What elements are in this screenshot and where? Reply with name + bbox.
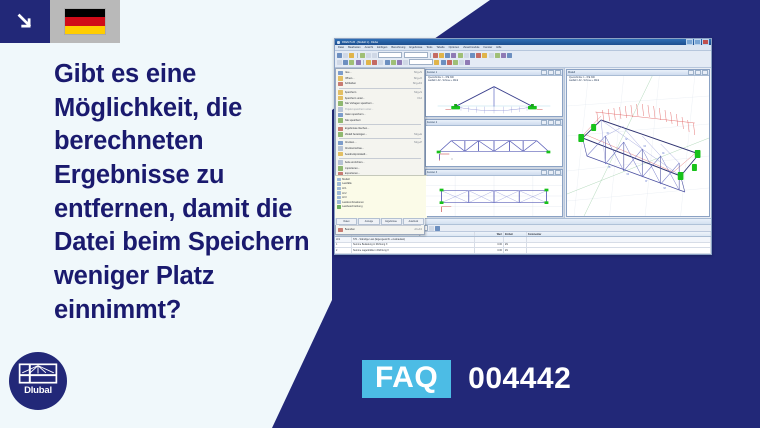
german-flag-icon	[65, 9, 105, 34]
file-menu-item-shortcut: Strg+F4	[413, 82, 422, 85]
snap-icon[interactable]	[464, 53, 469, 58]
addon-icon[interactable]	[501, 53, 506, 58]
menu-separator	[339, 158, 421, 159]
svg-text:N3: N3	[644, 146, 647, 148]
navigator-item-label: Lastkombinationen	[342, 201, 364, 204]
info-icon[interactable]	[465, 60, 470, 65]
file-menu-exit-label: Beenden	[345, 228, 413, 231]
table-cell: LF1	[335, 237, 352, 241]
import-icon	[338, 166, 343, 171]
app-body: Neu...Strg+NÖffnen...Strg+OSchließenStrg…	[335, 68, 711, 218]
calculate-icon[interactable]	[433, 53, 438, 58]
tree-node-icon	[337, 178, 341, 182]
menubar-item-5[interactable]: Ergebnisse	[409, 46, 422, 49]
menubar-item-4[interactable]: Berechnung	[391, 46, 405, 49]
new-icon[interactable]	[337, 53, 342, 58]
mirror-icon[interactable]	[391, 60, 396, 65]
toolbar-row-1[interactable]	[337, 52, 709, 58]
section-icon[interactable]	[489, 53, 494, 58]
new-file-icon	[338, 71, 343, 76]
file-menu-item-10[interactable]: Modell bereinigen...Strg+E	[336, 132, 424, 138]
menubar-item-10[interactable]: Fenster	[483, 46, 492, 49]
tree-node-green-icon	[337, 205, 341, 209]
filter-icon[interactable]	[447, 60, 452, 65]
tree-leaf-icon	[337, 191, 341, 195]
menubar-item-6[interactable]: Tools	[426, 46, 432, 49]
page-title: Gibt es eine Möglichkeit, die berechnete…	[54, 58, 329, 327]
table-cell	[504, 237, 527, 241]
support-icon[interactable]	[482, 53, 487, 58]
minimize-button[interactable]	[686, 39, 693, 45]
svg-text:N8: N8	[664, 188, 667, 190]
navigator-tabs[interactable]: DatenAnzeigeErgebnisseAusdruck	[335, 218, 425, 225]
file-menu-item-label: Ergebnisse löschen...	[345, 127, 420, 130]
file-menu-item-label: Neu...	[345, 71, 412, 74]
view-canvas-frame-elevation[interactable]: Querschnitte: 1 - IPE 300 Lastfall: LF2 …	[426, 76, 562, 116]
scale-field[interactable]	[409, 59, 433, 66]
member-icon[interactable]	[356, 60, 361, 65]
dimension-icon[interactable]	[378, 60, 383, 65]
file-menu-item-shortcut: Strg+P	[414, 141, 422, 144]
file-menu-item-label: Daten speichern...	[345, 113, 420, 116]
undo-icon[interactable]	[366, 53, 371, 58]
tree-node-icon	[337, 200, 341, 204]
line-icon[interactable]	[349, 60, 354, 65]
corner-arrow-badge	[0, 0, 50, 43]
view-maximize-icon[interactable]	[548, 70, 554, 75]
menubar-item-7[interactable]: Tabelle	[436, 46, 444, 49]
table-cell	[527, 237, 711, 241]
svg-text:N7: N7	[645, 181, 648, 183]
select-icon[interactable]	[337, 60, 342, 65]
table-cell	[475, 237, 504, 241]
faq-band: FAQ 004442	[362, 360, 571, 398]
navigator-item-label: Lastbeschreibung	[342, 205, 362, 208]
toolbar-separator	[357, 53, 358, 58]
menu-separator	[339, 225, 421, 226]
svg-text:N5: N5	[608, 167, 611, 169]
tree-leaf-icon	[337, 187, 341, 191]
dlubal-frame-icon	[18, 363, 58, 384]
view-controls-3d[interactable]	[688, 70, 708, 75]
file-menu-item-label: Druckvorschau...	[345, 147, 420, 150]
faq-number: 004442	[468, 362, 571, 396]
view-maximize-icon[interactable]	[548, 120, 554, 125]
tree-leaf-icon	[337, 196, 341, 200]
file-menu-item-label: Importieren...	[345, 167, 420, 170]
display-icon[interactable]	[453, 60, 458, 65]
save-all-icon	[338, 101, 343, 106]
svg-text:N6: N6	[627, 174, 630, 176]
table-row[interactable]: 3Summe Belastung in Richtung Y0.00kN	[335, 254, 711, 255]
print-icon[interactable]	[360, 53, 365, 58]
rotate-icon[interactable]	[385, 60, 390, 65]
navigator-tab-0[interactable]: Daten	[336, 218, 357, 225]
view-window-3d[interactable]: Modell Querschnitte: 1 - IPE 300 Lastfal…	[566, 69, 710, 217]
navigator-item-label: LF2	[342, 192, 346, 195]
table-cell: Summe Belastung in Richtung X	[352, 243, 475, 247]
save-as-icon	[338, 96, 343, 101]
toolbars[interactable]	[335, 51, 711, 68]
menubar-item-8[interactable]: Optionen	[449, 46, 460, 49]
truss-plan-drawing	[426, 176, 562, 216]
view-window-1[interactable]: Fenster 1 Querschnitte: 1 - IPE 300 Last…	[425, 69, 563, 117]
help-icon[interactable]	[507, 53, 512, 58]
navigator-tree[interactable]: ModellLastfälleLF1LF2LF3Lastkombinatione…	[335, 175, 427, 218]
view-window-3[interactable]: Fenster 3	[425, 169, 563, 217]
file-menu-item-label: Alle Vorlagen speichern...	[345, 102, 420, 105]
settings-icon[interactable]	[459, 60, 464, 65]
toolbar-row-2[interactable]	[337, 59, 709, 65]
frame-elevation-drawing	[426, 76, 562, 116]
rfem-application-window: RFEM 5.26 - [Modell 1] - Dlubal DateiBea…	[334, 38, 712, 255]
menubar-item-1[interactable]: Bearbeiten	[348, 46, 361, 49]
view-minimize-icon[interactable]	[541, 120, 547, 125]
menu-separator	[339, 124, 421, 125]
view-minimize-icon[interactable]	[541, 170, 547, 175]
table-cell: kN	[504, 243, 527, 247]
save-icon[interactable]	[349, 53, 354, 58]
clean-icon	[338, 132, 343, 137]
table-cell: kN	[504, 254, 527, 255]
combination-select[interactable]	[404, 52, 428, 59]
file-menu-item-label: Modell bereinigen...	[345, 133, 412, 136]
navigator-tab-3[interactable]: Ausdruck	[403, 218, 424, 225]
close-icon	[338, 82, 343, 87]
dlubal-logo-text: Dlubal	[24, 385, 52, 396]
view-window-2[interactable]: Fenster 2	[425, 119, 563, 167]
file-menu-item-label: Ausdruckprotokoll...	[345, 153, 420, 156]
view-controls-3[interactable]	[541, 170, 561, 175]
table-settings-icon[interactable]	[435, 226, 440, 231]
load-icon[interactable]	[476, 53, 481, 58]
close-button[interactable]	[702, 39, 709, 45]
svg-text:x: x	[451, 158, 453, 160]
file-menu-item-shortcut: Strg+E	[414, 133, 422, 136]
view-close-icon[interactable]	[555, 120, 561, 125]
view-close-icon[interactable]	[555, 70, 561, 75]
render-icon[interactable]	[451, 53, 456, 58]
solid-icon[interactable]	[372, 60, 377, 65]
material-icon[interactable]	[495, 53, 500, 58]
view-controls-1[interactable]	[541, 70, 561, 75]
toolbar-separator	[363, 60, 364, 65]
language-flag-badge	[50, 0, 120, 43]
redo-icon[interactable]	[372, 53, 377, 58]
file-menu-item-8[interactable]: Alle speichern	[336, 118, 424, 124]
loadcase-select[interactable]	[378, 52, 402, 59]
file-menu-item-shortcut: Strg+O	[414, 77, 422, 80]
table-cell: kN	[504, 248, 527, 252]
view-controls-2[interactable]	[541, 120, 561, 125]
file-menu-column: Neu...Strg+NÖffnen...Strg+OSchließenStrg…	[335, 68, 424, 218]
surface-icon[interactable]	[366, 60, 371, 65]
navigator-tab-1[interactable]: Anzeige	[358, 218, 379, 225]
table-cell: 2	[335, 248, 352, 252]
navigator-item-label: Modell	[342, 178, 350, 181]
app-title-text: RFEM 5.26 - [Modell 1] - Dlubal	[342, 41, 378, 44]
svg-text:N2: N2	[625, 139, 628, 141]
table-cell: 0.00	[475, 248, 504, 252]
table-column-header: Kommentar	[527, 232, 711, 236]
zoom-icon[interactable]	[445, 53, 450, 58]
project-icon	[338, 107, 343, 112]
exit-icon	[338, 228, 343, 233]
menubar-item-11[interactable]: Hilfe	[496, 46, 501, 49]
delete-results-icon	[338, 127, 343, 132]
file-menu-item-shortcut: F12	[418, 97, 422, 100]
file-menu-item-shortcut: Strg+S	[414, 91, 422, 94]
view-title-2: Fenster 2	[427, 121, 437, 124]
view-minimize-icon[interactable]	[541, 70, 547, 75]
file-menu-item-label: Speichern unter...	[345, 97, 416, 100]
visibility-icon[interactable]	[441, 60, 446, 65]
truss-3d-drawing: N1N2 N3N4 N5N6 N7N8	[567, 76, 709, 216]
menubar-item-9[interactable]: Zusatzmodule	[463, 46, 479, 49]
view-canvas-truss-3d[interactable]: Querschnitte: 1 - IPE 300 Lastfall: LF2 …	[567, 76, 709, 216]
view-title-3d: Modell	[568, 71, 575, 74]
file-menu-item-label: Öffnen...	[345, 77, 412, 80]
toolbar-separator	[430, 53, 431, 58]
layer-icon[interactable]	[434, 60, 439, 65]
print-preview-icon	[338, 146, 343, 151]
menubar-item-2[interactable]: Ansicht	[365, 46, 374, 49]
menu-separator	[339, 88, 421, 89]
svg-text:N4: N4	[662, 153, 665, 155]
truss-elevation-drawing: x	[426, 126, 562, 166]
report-icon	[338, 152, 343, 157]
file-menu-item-label: Projekt speichern unter...	[345, 108, 420, 111]
maximize-button[interactable]	[694, 39, 701, 45]
view-canvas-truss-plan[interactable]	[426, 176, 562, 216]
move-icon[interactable]	[403, 60, 408, 65]
view-windows-column: Fenster 1 Querschnitte: 1 - IPE 300 Last…	[424, 68, 565, 218]
view-title-3: Fenster 3	[427, 171, 437, 174]
table-print-icon[interactable]	[429, 226, 434, 231]
app-icon	[337, 41, 340, 44]
table-column-header: Einheit	[504, 232, 527, 236]
file-menu-item-2[interactable]: SchließenStrg+F4	[336, 81, 424, 87]
results-grid[interactable]: Nr.BezeichnungWertEinheitKommentarLF1ST1…	[335, 232, 711, 255]
navigator-tab-2[interactable]: Ergebnisse	[381, 218, 402, 225]
tree-node-icon	[337, 182, 341, 186]
file-menu-exit[interactable]: BeendenAlt+F4	[336, 227, 424, 233]
table-cell	[527, 254, 711, 255]
open-icon[interactable]	[343, 53, 348, 58]
open-folder-icon	[338, 76, 343, 81]
view-close-icon[interactable]	[555, 170, 561, 175]
window-controls[interactable]	[686, 39, 709, 45]
file-menu-item-shortcut: Strg+N	[414, 71, 422, 74]
table-cell: 0.00	[475, 254, 504, 255]
view-minimize-icon[interactable]	[688, 70, 694, 75]
file-menu-item-label: Seite einrichten...	[345, 161, 420, 164]
file-menu-item-label: Drucken...	[345, 141, 412, 144]
table-cell: 3	[335, 254, 352, 255]
table-cell: ST1 - Ständige Last (Eigengewicht + Ausb…	[352, 237, 475, 241]
navigator-item-label: Lastfälle	[342, 182, 352, 185]
save-all-icon	[338, 118, 343, 123]
navigator-item-label: LF3	[342, 196, 346, 199]
print-icon	[338, 141, 343, 146]
file-menu-exit-shortcut: Alt+F4	[414, 228, 422, 231]
node-icon[interactable]	[343, 60, 348, 65]
view-canvas-truss-elevation[interactable]: x	[426, 126, 562, 166]
table-cell: Summe Belastung in Richtung Y	[352, 254, 475, 255]
view-maximize-icon[interactable]	[695, 70, 701, 75]
file-menu-item-13[interactable]: Ausdruckprotokoll...	[336, 151, 424, 157]
copy-icon[interactable]	[397, 60, 402, 65]
menubar-item-3[interactable]: Einfügen	[377, 46, 387, 49]
file-menu-item-label: Alle speichern	[345, 119, 420, 122]
faq-label: FAQ	[362, 360, 451, 398]
file-menu-item-label: Speichern	[345, 91, 412, 94]
results-icon[interactable]	[439, 53, 444, 58]
menubar-item-0[interactable]: Datei	[338, 46, 344, 49]
grid-icon[interactable]	[458, 53, 463, 58]
page-setup-icon	[338, 160, 343, 165]
arrow-down-right-icon	[14, 11, 36, 33]
view-maximize-icon[interactable]	[548, 170, 554, 175]
view-close-icon[interactable]	[702, 70, 708, 75]
table-cell	[527, 243, 711, 247]
menu-separator	[339, 138, 421, 139]
navigator-item-6[interactable]: Lastbeschreibung	[337, 205, 425, 210]
table-column-header: Wert	[475, 232, 504, 236]
view-icon[interactable]	[470, 53, 475, 58]
table-cell: Summe Lagerkräfte in Richtung X	[352, 248, 475, 252]
table-cell: 1	[335, 243, 352, 247]
dlubal-logo: Dlubal	[9, 352, 67, 410]
navigator-item-label: LF1	[342, 187, 346, 190]
table-cell	[527, 248, 711, 252]
table-cell: 0.00	[475, 243, 504, 247]
slide-canvas: Gibt es eine Möglichkeit, die berechnete…	[0, 0, 760, 428]
view-title-1: Fenster 1	[427, 71, 437, 74]
save-icon	[338, 90, 343, 95]
data-icon	[338, 113, 343, 118]
file-menu-item-label: Schließen	[345, 82, 411, 85]
